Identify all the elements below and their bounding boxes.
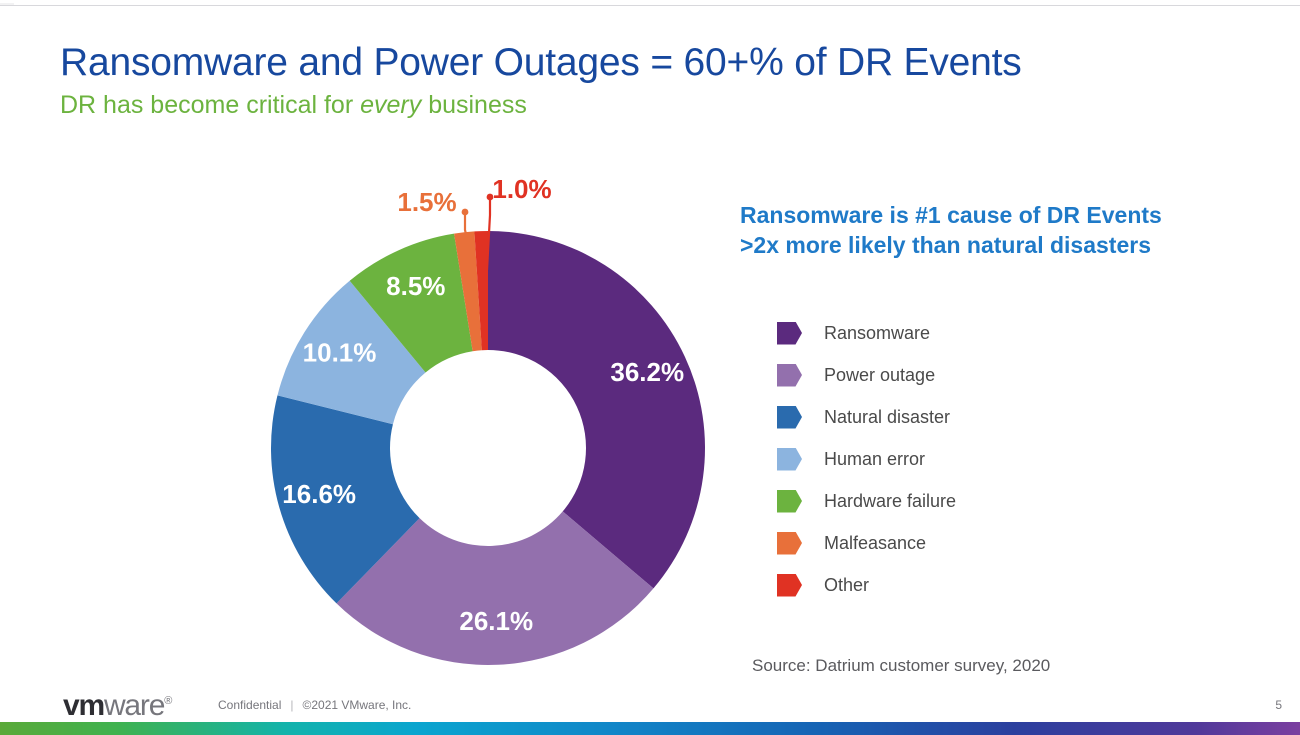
- legend-item[interactable]: Natural disaster: [777, 396, 1197, 438]
- callout-line-2: >2x more likely than natural disasters: [740, 230, 1270, 260]
- subtitle-post: business: [421, 91, 527, 119]
- legend-swatch-icon: [777, 364, 802, 387]
- confidential-label: Confidential: [218, 698, 281, 712]
- legend-item[interactable]: Power outage: [777, 354, 1197, 396]
- donut-chart-svg: 36.2%26.1%16.6%10.1%8.5%1.5%1.0%: [247, 170, 747, 690]
- donut-slice-group: [271, 231, 705, 665]
- legend-item-label: Natural disaster: [824, 407, 950, 428]
- callout-text: Ransomware is #1 cause of DR Events >2x …: [740, 200, 1270, 260]
- vmware-logo: vmware®: [63, 686, 171, 721]
- legend-item[interactable]: Hardware failure: [777, 480, 1197, 522]
- logo-vm-text: vm: [63, 689, 104, 722]
- source-note: Source: Datrium customer survey, 2020: [752, 656, 1050, 676]
- donut-slice-value-label: 36.2%: [610, 357, 684, 387]
- donut-chart: 36.2%26.1%16.6%10.1%8.5%1.5%1.0%: [247, 170, 747, 690]
- legend-item[interactable]: Malfeasance: [777, 522, 1197, 564]
- page-title: Ransomware and Power Outages = 60+% of D…: [60, 40, 1022, 86]
- legend-swatch-icon: [777, 406, 802, 429]
- donut-slice-value-label: 26.1%: [459, 606, 533, 636]
- footer-metadata: Confidential|©2021 VMware, Inc.: [218, 698, 411, 712]
- page-subtitle: DR has become critical for every busines…: [60, 90, 527, 120]
- legend-item-label: Other: [824, 575, 869, 596]
- legend-swatch-icon: [777, 490, 802, 513]
- bottom-gradient-bar: [0, 722, 1300, 735]
- legend-swatch-icon: [777, 448, 802, 471]
- donut-slice-value-label: 8.5%: [386, 271, 445, 301]
- logo-ware-text: ware: [104, 689, 164, 722]
- donut-slice-value-label: 16.6%: [282, 479, 356, 509]
- legend-swatch-icon: [777, 532, 802, 555]
- legend-item-label: Hardware failure: [824, 491, 956, 512]
- top-divider-line: [0, 5, 1300, 6]
- legend-item[interactable]: Human error: [777, 438, 1197, 480]
- donut-leader-dot-icon: [462, 209, 469, 216]
- legend-item-label: Power outage: [824, 365, 935, 386]
- legend-item-label: Ransomware: [824, 323, 930, 344]
- donut-slice-value-label: 10.1%: [303, 337, 377, 367]
- chart-legend: RansomwarePower outageNatural disasterHu…: [777, 312, 1197, 606]
- copyright-label: ©2021 VMware, Inc.: [303, 698, 412, 712]
- donut-slice[interactable]: [488, 231, 705, 588]
- legend-swatch-icon: [777, 322, 802, 345]
- subtitle-emphasis: every: [360, 91, 421, 119]
- legend-item-label: Human error: [824, 449, 925, 470]
- slide-canvas: Ransomware and Power Outages = 60+% of D…: [0, 0, 1300, 735]
- donut-slice-value-label: 1.0%: [492, 174, 551, 204]
- legend-item-label: Malfeasance: [824, 533, 926, 554]
- callout-line-1: Ransomware is #1 cause of DR Events: [740, 200, 1270, 230]
- registered-trademark-icon: ®: [164, 695, 171, 707]
- page-number: 5: [1275, 698, 1282, 712]
- legend-item[interactable]: Ransomware: [777, 312, 1197, 354]
- legend-item[interactable]: Other: [777, 564, 1197, 606]
- subtitle-pre: DR has become critical for: [60, 91, 360, 119]
- donut-slice-value-label: 1.5%: [397, 187, 456, 217]
- footer-separator: |: [281, 698, 302, 712]
- legend-swatch-icon: [777, 574, 802, 597]
